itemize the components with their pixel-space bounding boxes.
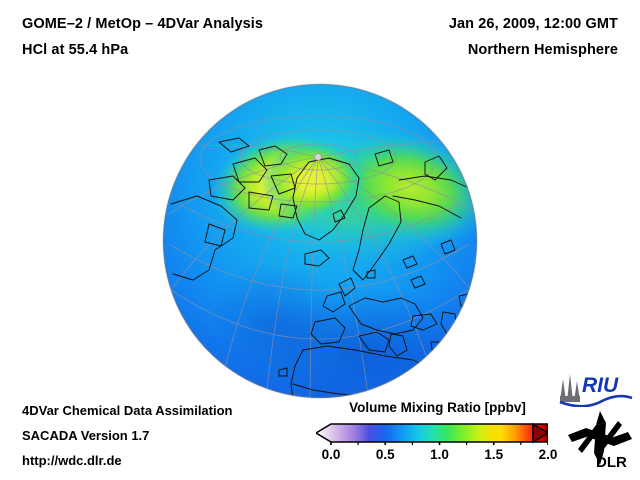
globe-svg (163, 84, 477, 398)
colorbar-gradient-bar (316, 424, 548, 442)
footer-line-3: http://wdc.dlr.de (22, 453, 122, 468)
colorbar-tick-label: 2.0 (539, 447, 558, 462)
colorbar-tick-label: 0.0 (322, 447, 341, 462)
header-instrument-line: GOME–2 / MetOp – 4DVar Analysis (22, 16, 263, 32)
header-region: Northern Hemisphere (468, 42, 618, 58)
riu-tower-icon (560, 374, 580, 402)
field-low-west (203, 262, 343, 378)
globe-plot (163, 84, 477, 398)
colorbar-title: Volume Mixing Ratio [ppbv] (330, 400, 545, 415)
north-pole-marker (315, 154, 322, 161)
colorbar-tick-label: 1.5 (484, 447, 503, 462)
header-datetime: Jan 26, 2009, 12:00 GMT (449, 16, 618, 32)
riu-logo: RIU (558, 371, 634, 407)
header-species-line: HCl at 55.4 hPa (22, 42, 128, 58)
dlr-logo-text: DLR (596, 454, 627, 471)
colorbar-svg (316, 421, 548, 445)
riu-logo-text: RIU (582, 374, 619, 397)
footer-line-2: SACADA Version 1.7 (22, 428, 149, 443)
dlr-logo: DLR (566, 409, 634, 471)
colorbar-tick-labels: 0.00.51.01.52.0 (316, 447, 548, 467)
colorbar-tick-label: 1.0 (430, 447, 449, 462)
footer-line-1: 4DVar Chemical Data Assimilation (22, 403, 233, 418)
globe-disc (163, 84, 477, 398)
colorbar (316, 421, 548, 445)
colorbar-tick-label: 0.5 (376, 447, 395, 462)
